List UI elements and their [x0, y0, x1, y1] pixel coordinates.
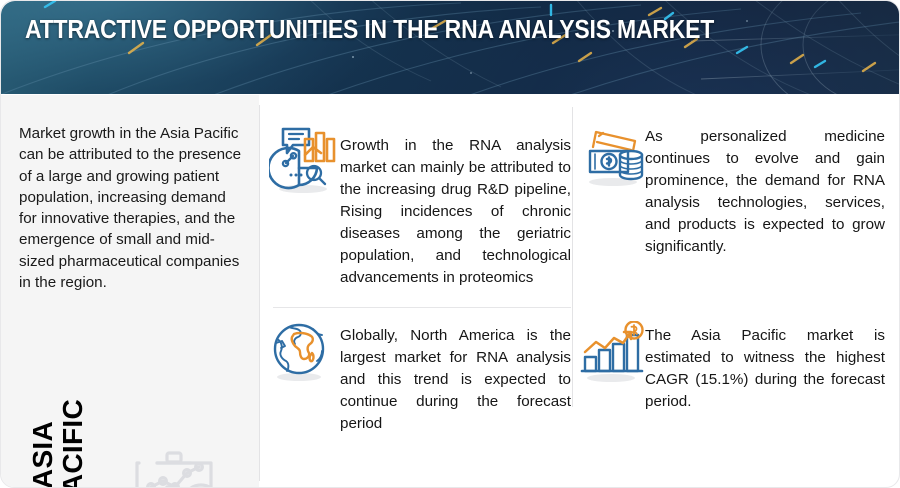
insight-card-1-text: Growth in the RNA analysis market can ma… [340, 135, 571, 289]
network-arcs-decoration [1, 1, 900, 94]
insight-card-4-text: The Asia Pacific market is estimated to … [645, 325, 885, 413]
region-label-line1: ASIA [27, 421, 58, 488]
vertical-divider-left [259, 105, 260, 481]
page-title: ATTRACTIVE OPPORTUNITIES IN THE RNA ANAL… [25, 16, 714, 45]
horizontal-divider-left-column [273, 307, 571, 308]
globe-icon [269, 321, 331, 383]
region-label: ASIA PACIFIC [28, 380, 88, 488]
insight-card-2-text: As personalized medicine continues to ev… [645, 126, 885, 258]
left-summary-panel: Market growth in the Asia Pacific can be… [1, 95, 259, 488]
money-cash-coins-icon [583, 123, 649, 189]
insight-card-3-text: Globally, North America is the largest m… [340, 325, 571, 435]
infographic-page: ATTRACTIVE OPPORTUNITIES IN THE RNA ANAL… [0, 0, 900, 488]
presentation-chart-magnifier-icon [125, 447, 237, 488]
analytics-bar-chart-icon [269, 123, 341, 195]
region-label-line2: PACIFIC [57, 399, 88, 488]
growth-chart-dollar-icon [579, 321, 647, 383]
header-banner: ATTRACTIVE OPPORTUNITIES IN THE RNA ANAL… [1, 1, 900, 94]
vertical-divider-middle [572, 107, 573, 407]
left-panel-paragraph: Market growth in the Asia Pacific can be… [19, 123, 245, 293]
